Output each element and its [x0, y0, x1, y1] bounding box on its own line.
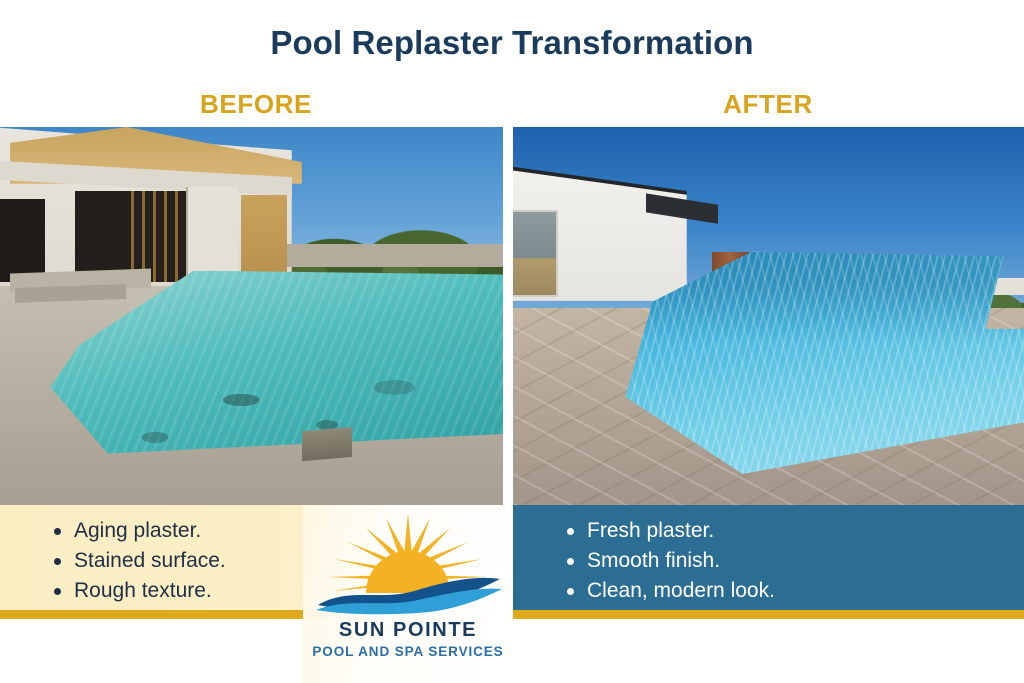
- bottom-section: Aging plaster. Stained surface. Rough te…: [0, 505, 1024, 683]
- company-logo: SUN POINTE POOL AND SPA SERVICES: [303, 505, 513, 683]
- before-photo: [0, 127, 503, 505]
- before-label: BEFORE: [0, 89, 512, 120]
- far-retaining-wall: [287, 244, 503, 267]
- osb-sheathing-panel: [241, 195, 286, 278]
- after-bullets-panel: Fresh plaster. Smooth finish. Clean, mod…: [513, 505, 1024, 619]
- logo-company-name: SUN POINTE: [303, 619, 513, 642]
- after-label: AFTER: [512, 89, 1024, 120]
- poster-canvas: Pool Replaster Transformation BEFORE AFT…: [0, 0, 1024, 683]
- list-item: Smooth finish.: [565, 546, 1024, 576]
- doorway-left: [0, 199, 45, 282]
- logo-tagline: POOL AND SPA SERVICES: [303, 644, 513, 659]
- list-item: Fresh plaster.: [565, 516, 1024, 546]
- concrete-block: [302, 427, 352, 462]
- sliding-glass-door: [513, 210, 558, 297]
- after-bullet-list: Fresh plaster. Smooth finish. Clean, mod…: [565, 505, 1024, 606]
- page-title: Pool Replaster Transformation: [0, 24, 1024, 62]
- white-door: [186, 187, 238, 282]
- list-item: Clean, modern look.: [565, 576, 1024, 606]
- photo-comparison: [0, 127, 1024, 505]
- header: Pool Replaster Transformation BEFORE AFT…: [0, 0, 1024, 127]
- after-photo: [513, 127, 1024, 505]
- sun-over-waves-icon: [308, 511, 508, 615]
